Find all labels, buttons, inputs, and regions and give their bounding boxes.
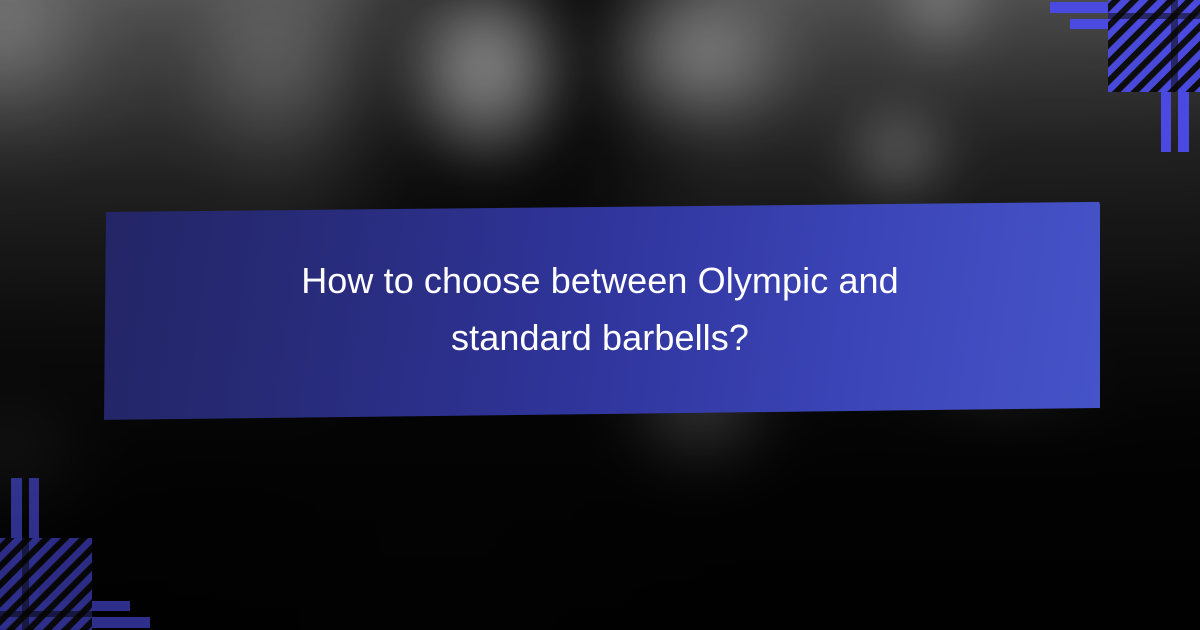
headline-card-inner: How to choose between Olympic and standa… (100, 196, 1100, 424)
page-title: How to choose between Olympic and standa… (250, 253, 950, 367)
headline-card: How to choose between Olympic and standa… (100, 196, 1100, 424)
social-card-canvas: How to choose between Olympic and standa… (0, 0, 1200, 630)
